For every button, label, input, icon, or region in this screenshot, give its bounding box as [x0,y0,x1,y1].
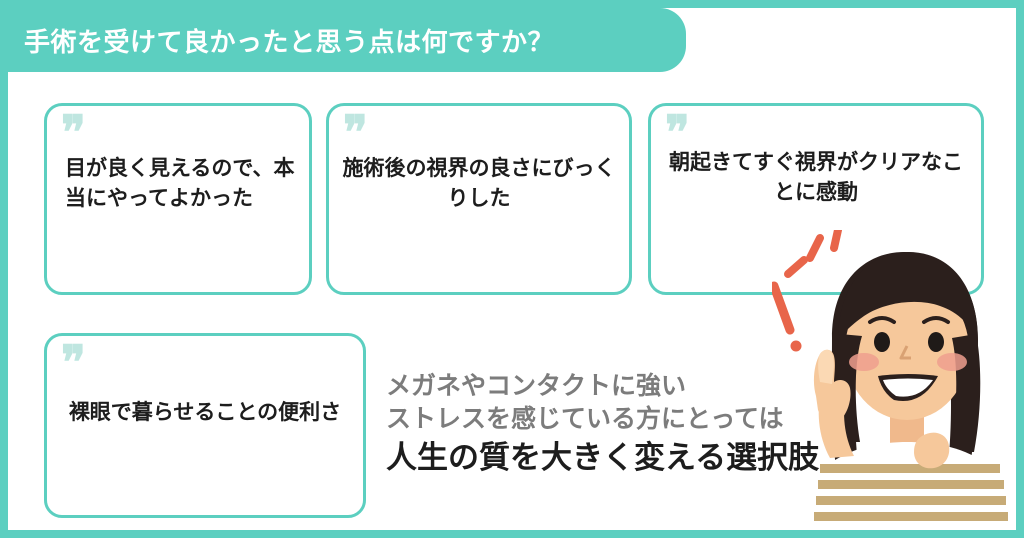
eyebrow-left [870,318,894,322]
quote-card-3: ❞ 朝起きてすぐ視界がクリアなことに感動 [648,103,984,295]
blush-right [937,353,967,371]
conclusion-line-2: ストレスを感じている方にとっては [386,403,946,436]
eye-right [928,332,944,352]
quote-card-2-text: 施術後の視界の良さにびっくりした [329,154,629,214]
conclusion-line-1: メガネやコンタクトに強い [386,370,946,403]
quote-card-2: ❞ 施術後の視界の良さにびっくりした [326,103,632,295]
white-content-area: 手術を受けて良かったと思う点は何ですか？ ❞ 目が良く見えるので、本当にやってよ… [8,8,1016,530]
quote-card-1: ❞ 目が良く見えるので、本当にやってよかった [44,103,312,295]
quote-mark-icon: ❞ [61,110,86,156]
eye-left [874,332,890,352]
quote-card-4-text: 裸眼で暮らせることの便利さ [47,398,363,428]
conclusion-emphasis: 人生の質を大きく変える選択肢 [386,438,946,478]
hair-side-right [950,334,980,452]
page-title: 手術を受けて良かったと思う点は何ですか？ [8,22,554,59]
conclusion-block: メガネやコンタクトに強い ストレスを感じている方にとっては 人生の質を大きく変え… [386,370,946,478]
quote-card-1-text: 目が良く見えるので、本当にやってよかった [47,154,309,214]
infographic-canvas: 手術を受けて良かったと思う点は何ですか？ ❞ 目が良く見えるので、本当にやってよ… [0,0,1024,538]
nose [901,346,911,358]
quote-card-3-text: 朝起きてすぐ視界がクリアなことに感動 [651,148,981,208]
exclamation-mark-icon [774,286,802,352]
ear-left [838,341,856,367]
quote-card-4: ❞ 裸眼で暮らせることの便利さ [44,333,366,518]
ear-right [958,341,976,367]
header-banner: 手術を受けて良かったと思う点は何ですか？ [8,8,686,72]
blush-left [849,353,879,371]
eyebrow-right [924,318,948,322]
quote-mark-icon: ❞ [343,110,368,156]
quote-mark-icon: ❞ [61,340,86,386]
